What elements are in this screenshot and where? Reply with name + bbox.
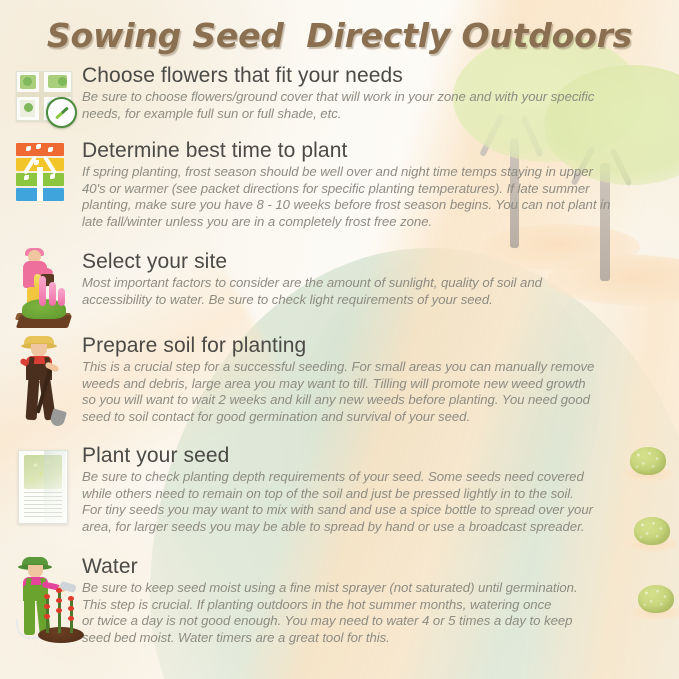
step-body: This is a crucial step for a successful … xyxy=(82,359,670,425)
compass-icon xyxy=(46,97,77,128)
step-body: Be sure to check planting depth requirem… xyxy=(82,469,670,535)
planting-flowers-icon xyxy=(10,248,82,328)
step-text-choose-flowers: Choose flowers that fit your needs Be su… xyxy=(82,64,670,122)
step-heading: Choose flowers that fit your needs xyxy=(82,64,670,88)
step-heading: Determine best time to plant xyxy=(82,139,670,163)
seed-packet-icon xyxy=(14,448,86,526)
gardener-with-shovel-icon xyxy=(12,336,84,428)
step-text-prepare-soil: Prepare soil for planting This is a cruc… xyxy=(82,334,670,425)
page-title: Sowing Seed Directly Outdoors xyxy=(0,16,679,55)
step-text-water: Water Be sure to keep seed moist using a… xyxy=(82,555,670,646)
step-body: Be sure to choose flowers/ground cover t… xyxy=(82,89,670,122)
infographic-poster: Sowing Seed Directly Outdoors xyxy=(0,0,679,679)
step-body: Most important factors to consider are t… xyxy=(82,275,670,308)
four-seasons-icon xyxy=(16,143,88,205)
watering-person-icon xyxy=(10,557,82,643)
step-text-plant-seed: Plant your seed Be sure to check plantin… xyxy=(82,444,670,535)
step-body: If spring planting, frost season should … xyxy=(82,164,670,230)
step-text-best-time: Determine best time to plant If spring p… xyxy=(82,139,670,230)
step-heading: Select your site xyxy=(82,250,670,274)
step-heading: Plant your seed xyxy=(82,444,670,468)
step-heading: Water xyxy=(82,555,670,579)
step-text-select-site: Select your site Most important factors … xyxy=(82,250,670,308)
step-body: Be sure to keep seed moist using a fine … xyxy=(82,580,670,646)
garden-map-compass-icon xyxy=(12,68,84,126)
step-heading: Prepare soil for planting xyxy=(82,334,670,358)
